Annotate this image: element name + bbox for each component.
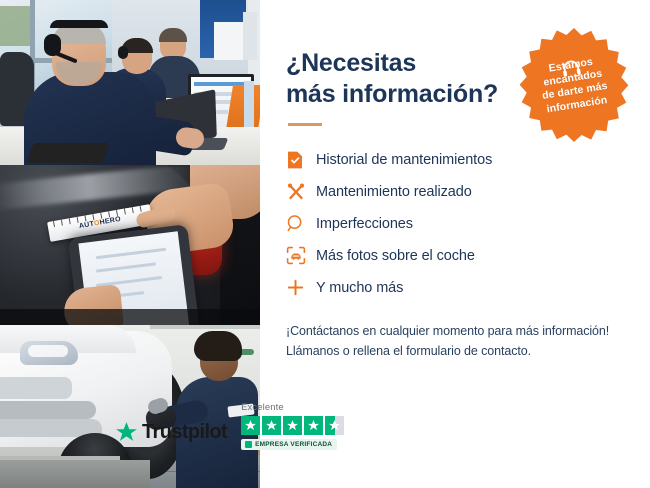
trustpilot-rating[interactable]: Trustpilot Excelente	[115, 402, 344, 450]
trustpilot-star-icon	[115, 421, 138, 444]
feature-label: Imperfecciones	[316, 216, 413, 232]
car-inspection-ruler-photo: AUTOHERO	[0, 165, 260, 325]
photo3-mechanic-hair	[194, 331, 242, 361]
photo3-grille	[0, 377, 72, 399]
magnifier-icon	[286, 214, 316, 233]
photo1-agent3-hair	[159, 28, 187, 42]
star-2	[262, 416, 281, 435]
photo1-foliage	[0, 6, 30, 46]
information-banner: AUTOHERO	[0, 0, 650, 488]
trustpilot-rating-label: Excelente	[241, 402, 284, 413]
trustpilot-stars	[241, 416, 344, 435]
title-underline-rule	[288, 123, 322, 126]
verified-label: EMPRESA VERIFICADA	[255, 441, 332, 448]
star-4	[304, 416, 323, 435]
photo1-agent2-headset	[118, 46, 128, 59]
star-5-half	[325, 416, 344, 435]
tools-cross-icon	[286, 182, 316, 202]
feature-item-more-photos: Más fotos sobre el coche	[286, 240, 626, 271]
contact-line-2: Llámanos o rellena el formulario de cont…	[286, 341, 626, 361]
photo1-agent1-headset-band	[50, 20, 108, 28]
photo3-lift-platform	[0, 460, 150, 488]
plus-icon	[286, 278, 316, 297]
headset-icon	[560, 57, 583, 78]
feature-item-imperfections: Imperfecciones	[286, 208, 626, 239]
contact-text: ¡Contáctanos en cualquier momento para m…	[286, 321, 626, 362]
photo1-tablet	[26, 143, 109, 163]
trustpilot-logo[interactable]: Trustpilot	[115, 421, 227, 450]
feature-label: Más fotos sobre el coche	[316, 248, 475, 264]
call-center-agents-photo	[0, 0, 260, 165]
support-badge: Estamos encantados de darte más informac…	[515, 26, 633, 144]
document-check-icon	[286, 150, 316, 170]
feature-item-maintenance-done: Mantenimiento realizado	[286, 176, 626, 207]
feature-list: Historial de mantenimientos Mantenimient…	[286, 144, 626, 303]
star-3	[283, 416, 302, 435]
feature-item-much-more: Y mucho más	[286, 272, 626, 303]
check-square-icon	[245, 441, 252, 448]
photo1-side-poster	[243, 12, 257, 60]
star-1	[241, 416, 260, 435]
feature-label: Y mucho más	[316, 280, 403, 296]
trustpilot-wordmark: Trustpilot	[142, 421, 227, 444]
photo2-bottom-shadow	[0, 309, 260, 325]
page-title: ¿Necesitas más información?	[286, 48, 516, 109]
headline-line-1: ¿Necesitas	[286, 49, 416, 77]
feature-label: Historial de mantenimientos	[316, 152, 492, 168]
headline-line-2: más información?	[286, 80, 498, 108]
feature-item-maintenance-history: Historial de mantenimientos	[286, 144, 626, 175]
verified-company-badge: EMPRESA VERIFICADA	[241, 439, 337, 450]
feature-label: Mantenimiento realizado	[316, 184, 472, 200]
car-scan-icon	[286, 246, 316, 265]
photo3-wall-trim	[150, 325, 260, 329]
contact-line-1: ¡Contáctanos en cualquier momento para m…	[286, 321, 626, 341]
photo3-headlight-glass	[28, 345, 68, 357]
photo3-lower-grille	[0, 401, 96, 419]
trustpilot-score-block: Excelente EMPRESA	[241, 402, 344, 450]
